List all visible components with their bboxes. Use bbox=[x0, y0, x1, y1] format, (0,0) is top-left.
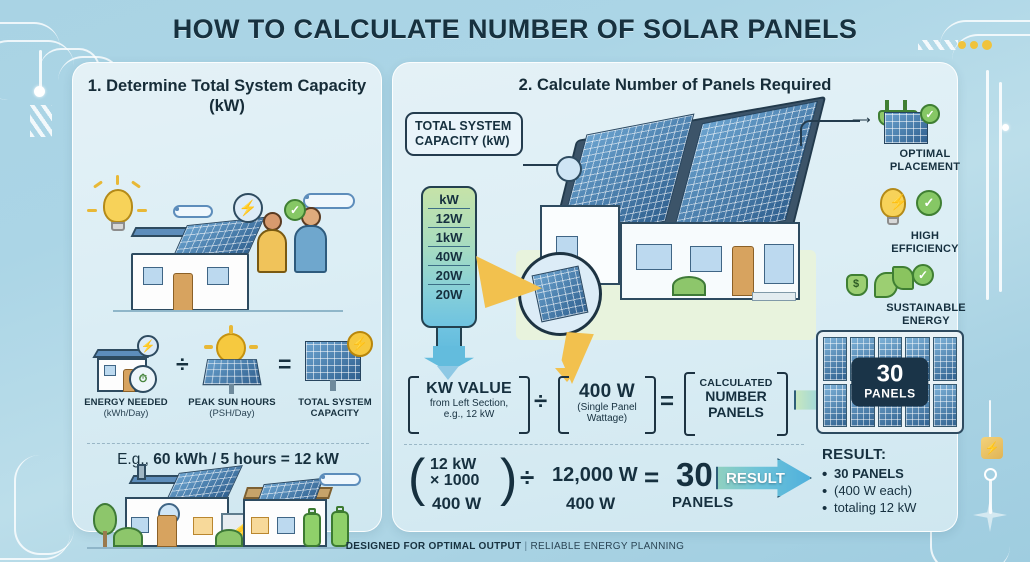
feature-2-line2: ENERGY bbox=[876, 315, 976, 328]
circuit-curve-tl-2 bbox=[0, 40, 74, 100]
bc-denominator-2: 400 W bbox=[566, 494, 615, 514]
right-panel-heading: 2. Calculate Number of Panels Required bbox=[393, 76, 957, 96]
battery-cap-1 bbox=[308, 508, 316, 514]
left-panel-heading: 1. Determine Total System Capacity (kW) bbox=[73, 77, 381, 117]
kw-cell-4: 20W bbox=[428, 266, 470, 285]
person-1-head bbox=[263, 212, 282, 231]
result-title: RESULT: bbox=[822, 446, 962, 463]
bc-mid-numerator: 12,000 W bbox=[552, 464, 638, 487]
fbox-1-sml1: (Single Panel bbox=[568, 402, 646, 414]
circuit-node-ring-br bbox=[984, 468, 997, 481]
fbox-0-big: KW VALUE bbox=[418, 381, 520, 398]
divider-2 bbox=[404, 444, 804, 445]
big-calculation: ( 12 kW × 1000 ) 400 W ÷ 12,000 W 400 W … bbox=[408, 450, 738, 528]
formula-row-divide: ÷ bbox=[534, 388, 547, 416]
kw-cell-5: 20W bbox=[428, 285, 470, 303]
result-item-0: 30 PANELS bbox=[822, 465, 962, 482]
kw-cell-0: kW bbox=[428, 190, 470, 209]
bulb-ray-1 bbox=[116, 175, 119, 185]
circuit-line-br-1 bbox=[989, 400, 991, 455]
bulb-ray-5 bbox=[137, 209, 147, 212]
fbox-0-sml1: from Left Section, bbox=[418, 398, 520, 410]
capacity-bolt-icon: ⚡ bbox=[347, 331, 373, 357]
panel-stand-3 bbox=[330, 380, 336, 391]
feature-label-optimal: OPTIMAL PLACEMENT bbox=[880, 148, 970, 174]
page-title: HOW TO CALCULATE NUMBER OF SOLAR PANELS bbox=[0, 14, 1030, 45]
callout-line-1: TOTAL SYSTEM bbox=[415, 119, 513, 134]
center-bush bbox=[672, 276, 706, 296]
result-arrow-label: RESULT bbox=[726, 470, 785, 487]
feature-0-line1: OPTIMAL bbox=[880, 148, 970, 161]
result-summary: RESULT: 30 PANELS (400 W each) totaling … bbox=[822, 446, 962, 516]
paren-close: ) bbox=[500, 452, 517, 504]
bc-answer-number: 30 bbox=[676, 458, 713, 491]
cloud-icon-3 bbox=[319, 473, 361, 486]
bc-denominator-1: 400 W bbox=[432, 494, 481, 514]
center-window-2 bbox=[636, 244, 672, 270]
cloud-icon-1 bbox=[173, 205, 213, 218]
house-with-meter-icon: ⚡ ⏱ bbox=[79, 331, 173, 397]
panel-count-badge: 30 PANELS bbox=[851, 358, 928, 407]
mini-bolt-badge-icon: ⚡ bbox=[137, 335, 159, 357]
formula-term-2-sub: (PSH/Day) bbox=[186, 408, 278, 419]
formula-term-1-sub: (kWh/Day) bbox=[79, 408, 173, 419]
efficiency-bulb-base bbox=[887, 217, 899, 225]
bc-answer-label: PANELS bbox=[672, 494, 734, 511]
feature-1-line1: HIGH bbox=[880, 230, 970, 243]
panel-stand-2 bbox=[229, 384, 234, 394]
plug-connector-line bbox=[800, 120, 860, 146]
plug-prong-2 bbox=[903, 100, 907, 111]
sun-ray-2 bbox=[204, 345, 213, 349]
formula-term-2-caption: PEAK SUN HOURS bbox=[186, 397, 278, 408]
efficiency-bolt-icon: ⚡ bbox=[889, 193, 908, 211]
leaf-secondary-icon bbox=[892, 266, 914, 290]
formula-term-3-caption: TOTAL SYSTEM bbox=[289, 397, 381, 408]
energy-meter-icon: ⏱ bbox=[129, 365, 157, 393]
capacity-formula-row: ⚡ ⏱ ENERGY NEEDED (kWh/Day) ÷ PEAK SUN H… bbox=[73, 331, 383, 439]
plug-prong-1 bbox=[885, 100, 889, 111]
kw-cell-1: 12W bbox=[428, 209, 470, 228]
example-text: 60 kWh / 5 hours = 12 kW bbox=[153, 451, 339, 468]
efficiency-check-icon: ✓ bbox=[916, 190, 942, 216]
sun-ray-1 bbox=[229, 325, 233, 334]
bc-numerator-line2: × 1000 bbox=[430, 472, 479, 490]
money-symbol: $ bbox=[853, 278, 859, 290]
formula-term-peak-sun-hours: PEAK SUN HOURS (PSH/Day) bbox=[186, 331, 278, 419]
center-window-4 bbox=[764, 244, 794, 284]
lightbulb-icon bbox=[103, 189, 133, 223]
circuit-line-tr-1 bbox=[986, 70, 989, 300]
battery-cap-2 bbox=[336, 506, 344, 512]
hatch-pattern-left bbox=[30, 105, 52, 137]
person-2-body bbox=[294, 225, 327, 273]
panel-count-number: 30 bbox=[864, 363, 915, 387]
example-prefix: E.g., bbox=[117, 451, 153, 468]
circuit-line-tl-1 bbox=[39, 50, 42, 88]
panel-cell bbox=[933, 337, 957, 381]
fbox-1-sml2: Wattage) bbox=[568, 413, 646, 425]
feature-2-line1: SUSTAINABLE bbox=[876, 302, 976, 315]
bulb-ray-3 bbox=[131, 180, 141, 188]
mini-house-window bbox=[104, 365, 116, 376]
formula-row-equals: = bbox=[660, 388, 674, 416]
sustainable-check-icon: ✓ bbox=[912, 264, 934, 286]
panel-cell bbox=[823, 337, 847, 381]
optimal-check-icon: ✓ bbox=[920, 104, 940, 124]
circuit-line-tr-2 bbox=[999, 82, 1002, 292]
panel-icon-2 bbox=[202, 359, 261, 385]
formula-term-energy-needed: ⚡ ⏱ ENERGY NEEDED (kWh/Day) bbox=[79, 331, 173, 419]
footer-tagline: DESIGNED FOR OPTIMAL OUTPUT | RELIABLE E… bbox=[0, 541, 1030, 552]
magnified-panel-icon bbox=[532, 266, 589, 323]
circuit-line-br-2 bbox=[989, 480, 992, 514]
bulb-ray-4 bbox=[87, 209, 97, 212]
panel-cell bbox=[933, 384, 957, 428]
kw-cell-2: 1kW bbox=[428, 228, 470, 247]
circuit-node-tr bbox=[1002, 124, 1009, 131]
infographic-canvas: ⚡ HOW TO CALCULATE NUMBER OF SOLAR PANEL… bbox=[0, 0, 1030, 562]
ground-line-1 bbox=[113, 310, 343, 312]
sun-over-panel-icon bbox=[186, 331, 278, 397]
circuit-curve-bl-2 bbox=[14, 455, 74, 555]
footer-separator: | bbox=[525, 541, 528, 552]
circuit-node-tl bbox=[34, 86, 45, 97]
fbox-2-mid2: PANELS bbox=[694, 405, 778, 421]
fbox-2-mid1: NUMBER bbox=[694, 389, 778, 405]
panel-determine-capacity: 1. Determine Total System Capacity (kW) … bbox=[72, 62, 382, 532]
result-list: 30 PANELS (400 W each) totaling 12 kW bbox=[822, 465, 962, 516]
callout-line-2: CAPACITY (kW) bbox=[415, 134, 513, 149]
center-step bbox=[752, 292, 796, 301]
bc-equals-operator: = bbox=[644, 462, 659, 493]
paren-open: ( bbox=[408, 452, 425, 504]
energy-badge-icon: ⚡ bbox=[981, 437, 1003, 459]
formula-box-calculated-number: CALCULATED NUMBER PANELS bbox=[684, 372, 788, 432]
feature-label-sustainable: SUSTAINABLE ENERGY bbox=[876, 302, 976, 328]
feature-1-line2: EFFICIENCY bbox=[880, 243, 970, 256]
bh-chimney bbox=[137, 464, 146, 480]
bulb-ray-2 bbox=[93, 180, 103, 188]
fbox-0-sml2: e.g., 12 kW bbox=[418, 409, 520, 421]
bolt-badge-icon: ⚡ bbox=[233, 193, 263, 223]
formula-term-3-sub: CAPACITY bbox=[289, 408, 381, 419]
fbox-1-big: 400 W bbox=[568, 382, 646, 402]
check-badge-icon: ✓ bbox=[284, 199, 306, 221]
house-round-window-center bbox=[556, 156, 582, 182]
footer-strong: DESIGNED FOR OPTIMAL OUTPUT bbox=[346, 541, 522, 552]
total-system-capacity-callout: TOTAL SYSTEM CAPACITY (kW) bbox=[405, 112, 523, 156]
bh-window-4 bbox=[277, 517, 295, 534]
result-item-1: (400 W each) bbox=[822, 482, 962, 499]
result-item-2: totaling 12 kW bbox=[822, 499, 962, 516]
center-door bbox=[732, 246, 754, 296]
bh-window-2 bbox=[193, 517, 213, 535]
kw-value-column: kW 12W 1kW 40W 20W 20W bbox=[421, 186, 477, 328]
center-window-3 bbox=[690, 246, 722, 272]
bc-divide-operator: ÷ bbox=[520, 462, 534, 493]
panel-count-label: PANELS bbox=[864, 387, 915, 401]
bh-window-3 bbox=[251, 517, 269, 534]
kw-cell-3: 40W bbox=[428, 247, 470, 266]
person-1-body bbox=[257, 229, 287, 273]
house-door bbox=[173, 273, 193, 311]
footer-light: RELIABLE ENERGY PLANNING bbox=[531, 541, 685, 552]
lightbulb-base-icon bbox=[111, 222, 125, 231]
plug-arrow-head: ⟶ bbox=[852, 112, 871, 128]
house-window-2 bbox=[207, 267, 229, 285]
house-window-1 bbox=[143, 267, 163, 285]
formula-term-total-capacity: ⚡ TOTAL SYSTEM CAPACITY bbox=[289, 331, 381, 419]
solar-panel-icon: ⚡ bbox=[289, 331, 381, 397]
formula-box-panel-wattage: 400 W (Single Panel Wattage) bbox=[558, 376, 656, 430]
panel-cell bbox=[823, 384, 847, 428]
panel-grid-visual: 30 PANELS bbox=[816, 330, 964, 434]
sparkle-icon bbox=[973, 498, 1007, 532]
feature-label-efficiency: HIGH EFFICIENCY bbox=[880, 230, 970, 256]
formula-term-1-caption: ENERGY NEEDED bbox=[79, 397, 173, 408]
feature-0-line2: PLACEMENT bbox=[880, 161, 970, 174]
sun-ray-3 bbox=[249, 345, 258, 349]
divider-1 bbox=[87, 443, 369, 444]
formula-box-kw-value: KW VALUE from Left Section, e.g., 12 kW bbox=[408, 376, 530, 430]
